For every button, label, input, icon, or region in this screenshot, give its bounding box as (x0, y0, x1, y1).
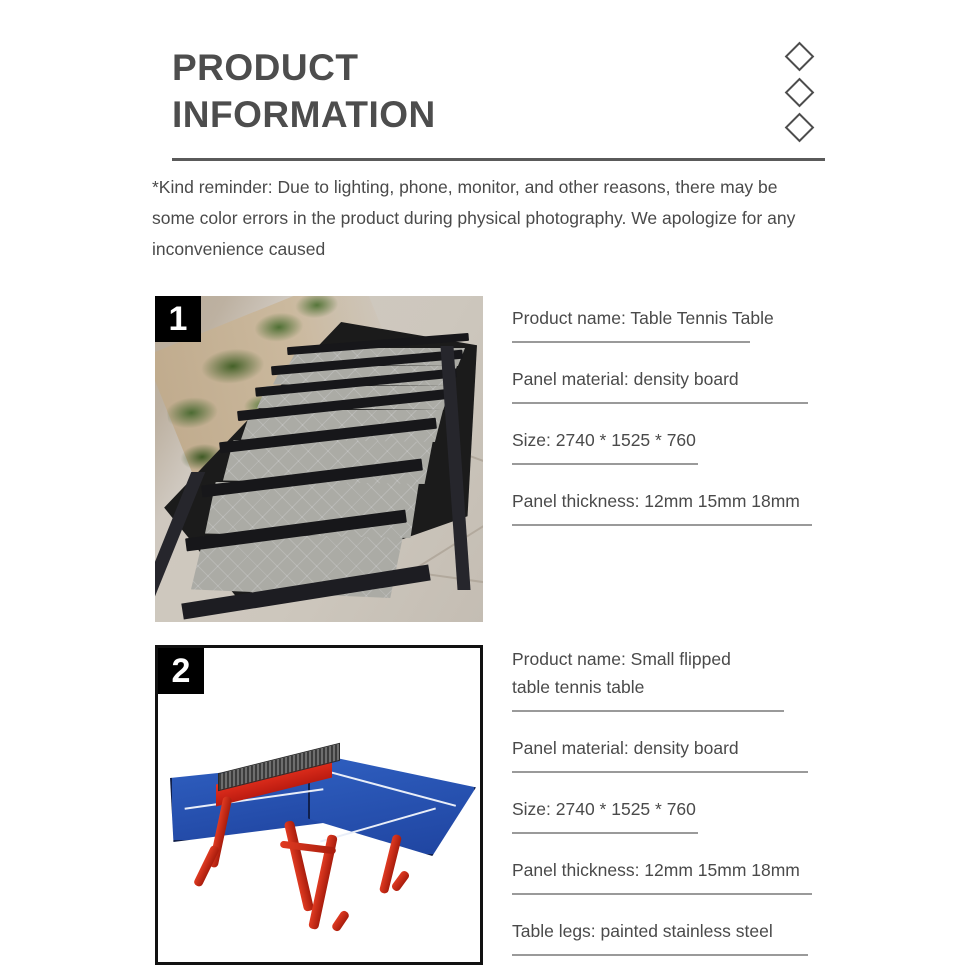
product-photo-2 (155, 645, 483, 965)
spec-text: Size: 2740 * 1525 * 760 (512, 426, 852, 454)
diamond-icon (784, 113, 814, 143)
spec-item: Product name: Table Tennis Table (512, 304, 852, 343)
diamond-icon (784, 77, 814, 107)
spec-underline (512, 524, 812, 526)
product-number-badge-2: 2 (158, 648, 204, 694)
product-spec-list-1: Product name: Table Tennis Table Panel m… (512, 304, 852, 548)
spec-text: Product name: Table Tennis Table (512, 304, 852, 332)
kind-reminder-note: *Kind reminder: Due to lighting, phone, … (152, 172, 812, 265)
spec-item: Panel thickness: 12mm 15mm 18mm (512, 856, 852, 895)
spec-text: Panel thickness: 12mm 15mm 18mm (512, 856, 852, 884)
spec-item: Size: 2740 * 1525 * 760 (512, 426, 852, 465)
page-header: PRODUCT INFORMATION (0, 0, 979, 175)
spec-item: Panel material: density board (512, 734, 852, 773)
spec-item: Product name: Small flipped table tennis… (512, 645, 852, 712)
spec-underline (512, 832, 698, 834)
table-leg (284, 820, 314, 912)
spec-item: Panel thickness: 12mm 15mm 18mm (512, 487, 852, 526)
spec-text: Panel material: density board (512, 734, 852, 762)
product-spec-list-2: Product name: Small flipped table tennis… (512, 645, 852, 978)
spec-text: Panel material: density board (512, 365, 852, 393)
page-title: PRODUCT INFORMATION (172, 44, 732, 138)
spec-item: Size: 2740 * 1525 * 760 (512, 795, 852, 834)
spec-underline (512, 341, 750, 343)
table-frame-underside (161, 322, 477, 612)
spec-underline (512, 893, 812, 895)
spec-text: Size: 2740 * 1525 * 760 (512, 795, 852, 823)
table-leg-foot (390, 869, 410, 892)
diamond-decoration-group (784, 46, 814, 138)
spec-text: Product name: Small flipped table tennis… (512, 645, 852, 701)
page-title-line-2: INFORMATION (172, 91, 732, 138)
product-row: Product name: Table Tennis Table Panel m… (0, 296, 979, 626)
spec-underline (512, 710, 784, 712)
spec-underline (512, 771, 808, 773)
spec-item: Table legs: painted stainless steel (512, 917, 852, 956)
header-divider (172, 158, 825, 161)
spec-text: Panel thickness: 12mm 15mm 18mm (512, 487, 852, 515)
page-title-line-1: PRODUCT (172, 44, 732, 91)
product-number-badge-1: 1 (155, 296, 201, 342)
spec-text: Table legs: painted stainless steel (512, 917, 852, 945)
product-row: Product name: Small flipped table tennis… (0, 645, 979, 967)
spec-underline (512, 463, 698, 465)
diamond-icon (784, 42, 814, 72)
spec-underline (512, 402, 808, 404)
spec-underline (512, 954, 808, 956)
spec-item: Panel material: density board (512, 365, 852, 404)
product-photo-1 (155, 296, 483, 622)
table-leg-foot (331, 909, 351, 932)
